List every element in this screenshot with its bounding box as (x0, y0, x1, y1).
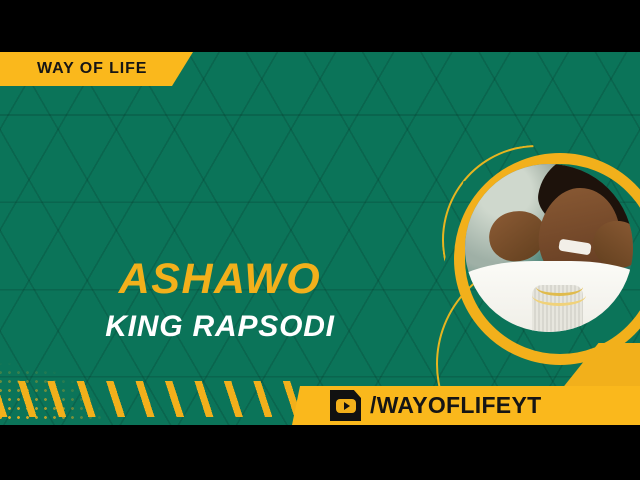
youtube-icon-body (336, 399, 356, 413)
song-title: ASHAWO (0, 257, 440, 302)
letterbox-bottom (0, 425, 640, 480)
artwork-canvas: ASHAWO KING RAPSODI (0, 52, 640, 425)
video-thumbnail: ASHAWO KING RAPSODI WAY OF LIFE /WAYOFLI… (0, 0, 640, 480)
channel-banner: WAY OF LIFE (0, 52, 193, 86)
channel-banner-label: WAY OF LIFE (37, 60, 147, 78)
portrait-frame (430, 107, 640, 425)
title-block: ASHAWO KING RAPSODI (0, 257, 440, 343)
letterbox-top (0, 0, 640, 52)
youtube-play-icon[interactable] (330, 390, 361, 421)
artist-name: KING RAPSODI (0, 310, 440, 343)
youtube-handle[interactable]: /WAYOFLIFEYT (370, 386, 541, 425)
play-triangle-icon (344, 402, 350, 410)
diagonal-stripe-band (0, 381, 310, 417)
artist-portrait-photo (465, 164, 633, 332)
